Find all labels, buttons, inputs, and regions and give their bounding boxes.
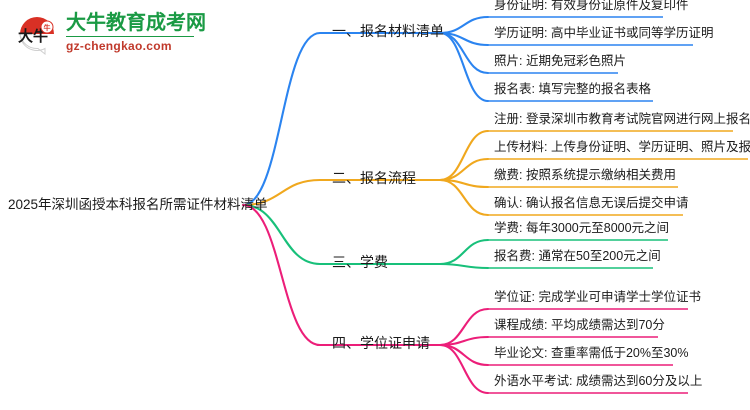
mindmap-leaf-4-2[interactable]: 课程成绩: 平均成绩需达到70分 [494,319,665,332]
mindmap-leaf-3-2[interactable]: 报名费: 通常在50至200元之间 [494,250,661,263]
mindmap-leaf-1-4[interactable]: 报名表: 填写完整的报名表格 [494,83,651,96]
mindmap-leaf-3-1[interactable]: 学费: 每年3000元至8000元之间 [494,222,669,235]
mindmap-leaf-2-1[interactable]: 注册: 登录深圳市教育考试院官网进行网上报名 [494,113,750,126]
mindmap-leaf-2-4[interactable]: 确认: 确认报名信息无误后提交申请 [494,197,688,210]
mindmap-branch-1[interactable]: 一、报名材料清单 [332,24,444,38]
mindmap-leaf-1-2[interactable]: 学历证明: 高中毕业证书或同等学历证明 [494,27,713,40]
mindmap-branch-4[interactable]: 四、学位证申请 [332,336,430,350]
mindmap-branch-3[interactable]: 三、学费 [332,255,388,269]
mindmap-leaf-1-3[interactable]: 照片: 近期免冠彩色照片 [494,55,626,68]
mindmap-leaf-4-3[interactable]: 毕业论文: 查重率需低于20%至30% [494,347,688,360]
mindmap-root-node[interactable]: 2025年深圳函授本科报名所需证件材料清单 [8,198,268,212]
mindmap-leaf-2-2[interactable]: 上传材料: 上传身份证明、学历证明、照片及报名表 [494,141,750,154]
mindmap-leaf-2-3[interactable]: 缴费: 按照系统提示缴纳相关费用 [494,169,676,182]
mindmap-leaf-1-1[interactable]: 身份证明: 有效身份证原件及复印件 [494,0,688,12]
mindmap-branch-2[interactable]: 二、报名流程 [332,171,416,185]
mindmap-leaf-4-1[interactable]: 学位证: 完成学业可申请学士学位证书 [494,291,701,304]
mindmap-leaf-4-4[interactable]: 外语水平考试: 成绩需达到60分及以上 [494,375,702,388]
